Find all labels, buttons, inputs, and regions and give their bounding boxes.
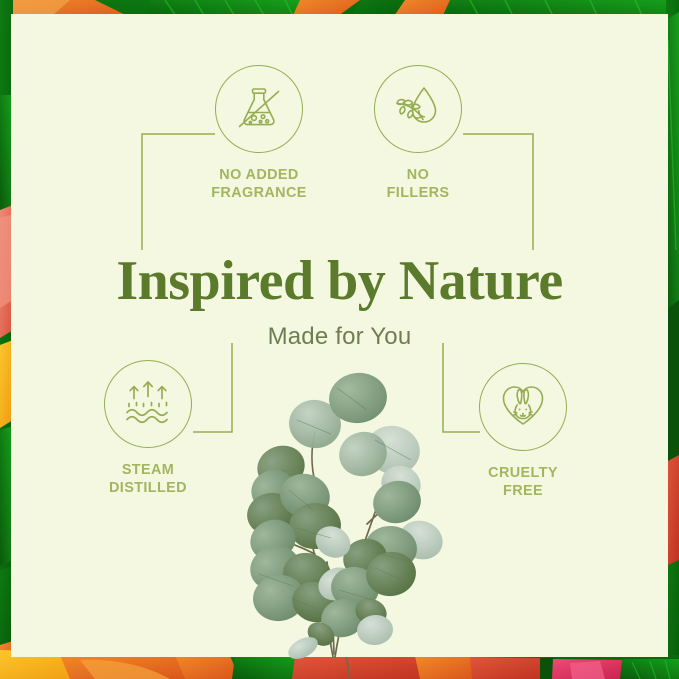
badge-circle [104, 360, 192, 448]
flask-no-fragrance-icon [231, 79, 287, 140]
badge-cruelty-free: CRUELTY FREE [448, 363, 598, 500]
badge-label: CRUELTY FREE [448, 464, 598, 500]
badge-steam-distilled: STEAM DISTILLED [73, 360, 223, 497]
badge-circle [374, 65, 462, 153]
badge-no-fillers: NO FILLERS [343, 65, 493, 202]
badge-label: NO ADDED FRAGRANCE [184, 166, 334, 202]
badge-label: NO FILLERS [343, 166, 493, 202]
steam-arrows-waves-icon [120, 374, 176, 435]
droplet-leaf-icon [390, 79, 446, 140]
eucalyptus-branch-illustration [215, 362, 465, 662]
badge-circle [215, 65, 303, 153]
page-title: Inspired by Nature [0, 253, 679, 309]
badge-label: STEAM DISTILLED [73, 461, 223, 497]
badge-no-added-fragrance: NO ADDED FRAGRANCE [184, 65, 334, 202]
heart-bunny-icon [495, 377, 551, 438]
page-subtitle: Made for You [0, 323, 679, 351]
badge-circle [479, 363, 567, 451]
infographic-canvas: NO ADDED FRAGRANCE [0, 0, 679, 679]
